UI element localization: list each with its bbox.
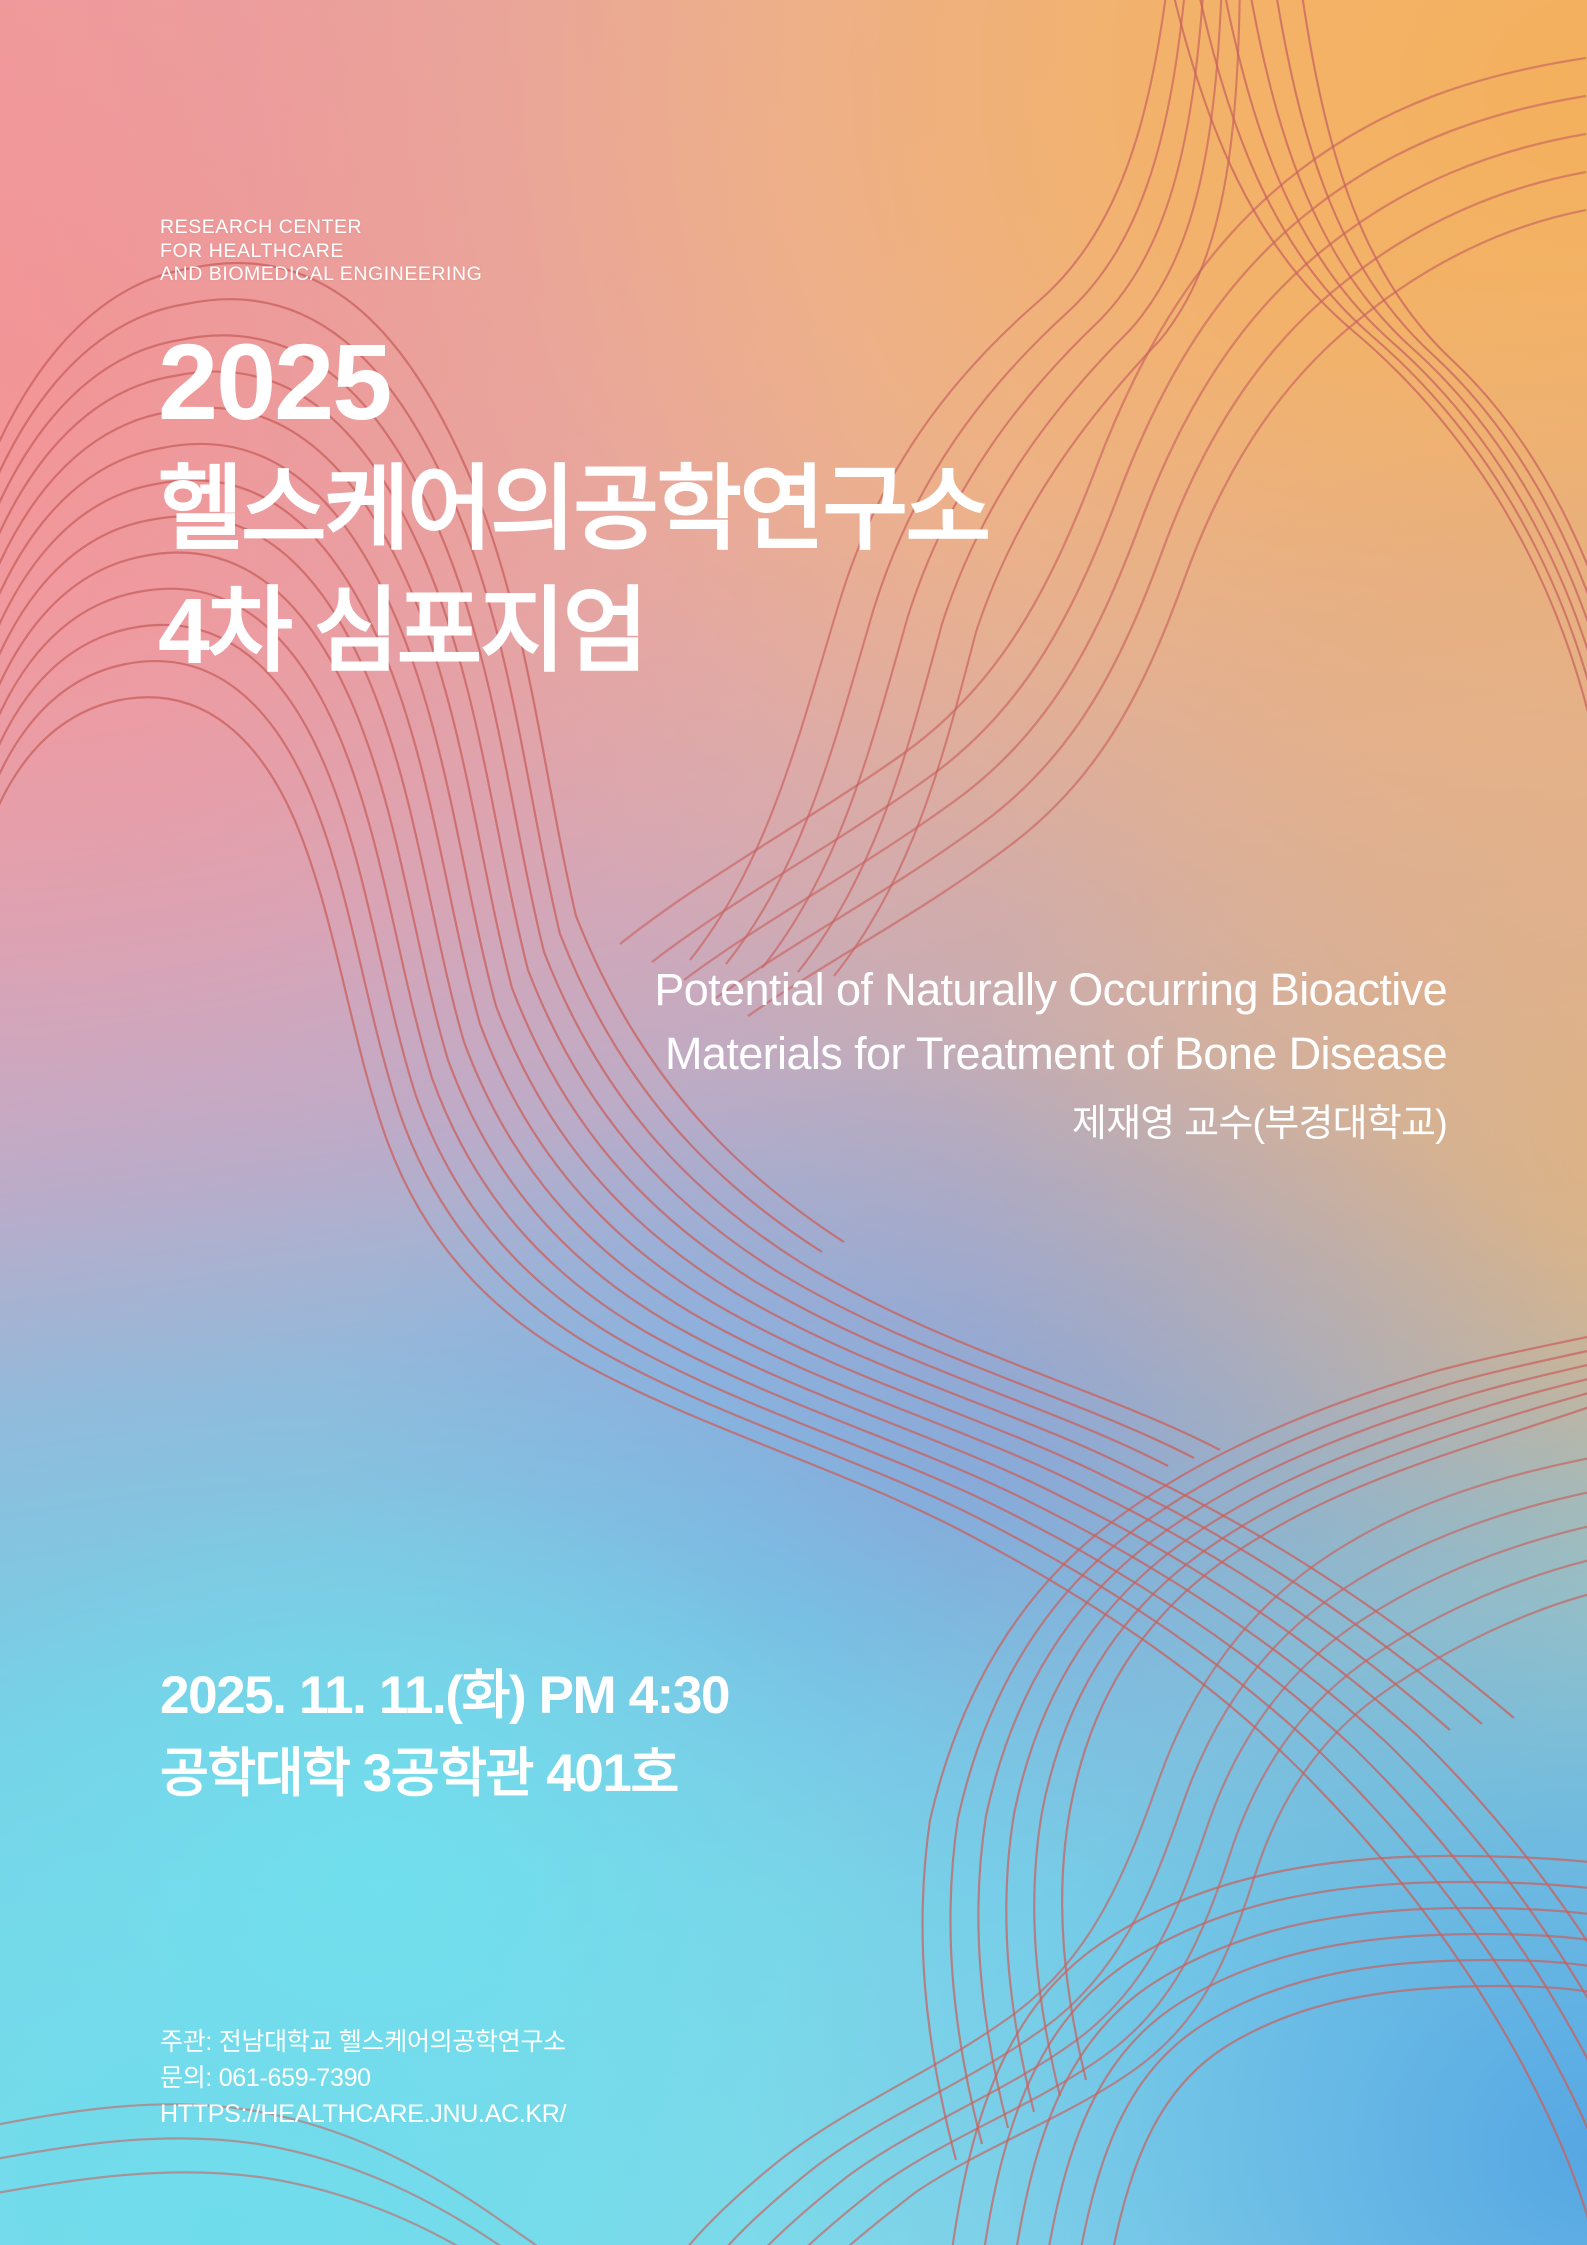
footer-block: 주관: 전남대학교 헬스케어의공학연구소 문의: 061-659-7390 HT… <box>160 2024 566 2132</box>
lecture-block: Potential of Naturally Occurring Bioacti… <box>520 958 1447 1148</box>
lecture-title-line-1: Potential of Naturally Occurring Bioacti… <box>520 958 1447 1022</box>
poster-content: RESEARCH CENTER FOR HEALTHCARE AND BIOME… <box>0 0 1587 2245</box>
footer-contact: 문의: 061-659-7390 <box>160 2060 566 2096</box>
title-line-1: 헬스케어의공학연구소 <box>158 450 989 568</box>
footer-host: 주관: 전남대학교 헬스케어의공학연구소 <box>160 2024 566 2060</box>
title-line-2: 4차 심포지엄 <box>158 572 989 690</box>
lecture-speaker: 제재영 교수(부경대학교) <box>520 1100 1447 1148</box>
symposium-poster: RESEARCH CENTER FOR HEALTHCARE AND BIOME… <box>0 0 1587 2245</box>
organization-header: RESEARCH CENTER FOR HEALTHCARE AND BIOME… <box>160 216 482 287</box>
schedule-block: 2025. 11. 11.(화) PM 4:30 공학대학 3공학관 401호 <box>160 1660 729 1810</box>
lecture-title-line-2: Materials for Treatment of Bone Disease <box>520 1022 1447 1086</box>
schedule-venue: 공학대학 3공학관 401호 <box>160 1738 729 1810</box>
organization-line-3: AND BIOMEDICAL ENGINEERING <box>160 263 482 287</box>
schedule-datetime: 2025. 11. 11.(화) PM 4:30 <box>160 1660 729 1732</box>
poster-title: 2025 헬스케어의공학연구소 4차 심포지엄 <box>158 320 989 690</box>
organization-line-2: FOR HEALTHCARE <box>160 240 482 264</box>
organization-line-1: RESEARCH CENTER <box>160 216 482 240</box>
footer-website[interactable]: HTTPS://HEALTHCARE.JNU.AC.KR/ <box>160 2096 566 2132</box>
title-year: 2025 <box>158 320 989 444</box>
